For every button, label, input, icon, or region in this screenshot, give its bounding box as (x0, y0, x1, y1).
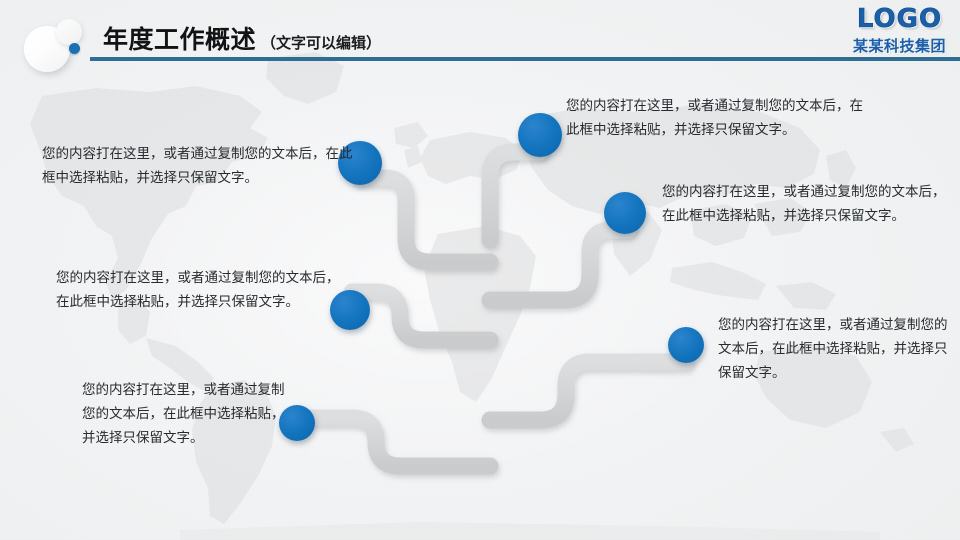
page-title-subtitle: （文字可以编辑） (261, 32, 381, 53)
branch-right-1 (490, 152, 540, 240)
page-title: 年度工作概述 （文字可以编辑） (103, 20, 381, 56)
node-right-3[interactable] (668, 327, 704, 363)
text-block-left-3[interactable]: 您的内容打在这里，或者通过复制您的文本后，在此框中选择粘贴，并选择只保留文字。 (82, 378, 297, 450)
page-title-main: 年度工作概述 (103, 20, 256, 56)
title-divider (90, 57, 960, 61)
logo-company-name: 某某科技集团 (853, 35, 946, 56)
branch-left-3 (297, 418, 490, 466)
slide-header: 年度工作概述 （文字可以编辑） LOGO 某某科技集团 (0, 0, 960, 72)
branch-right-3 (490, 362, 686, 420)
text-block-right-3[interactable]: 您的内容打在这里，或者通过复制您的文本后，在此框中选择粘贴，并选择只保留文字。 (718, 313, 953, 385)
branch-left-2 (352, 292, 490, 340)
decorative-circle-small (56, 19, 82, 45)
node-right-2[interactable] (604, 192, 646, 234)
brand-logo: LOGO 某某科技集团 (853, 4, 946, 56)
text-block-right-1[interactable]: 您的内容打在这里，或者通过复制您的文本后，在此框中选择粘贴，并选择只保留文字。 (566, 94, 866, 142)
node-right-1[interactable] (518, 113, 562, 157)
text-block-right-2[interactable]: 您的内容打在这里，或者通过复制您的文本后，在此框中选择粘贴，并选择只保留文字。 (662, 180, 952, 228)
text-block-left-2[interactable]: 您的内容打在这里，或者通过复制您的文本后，在此框中选择粘贴，并选择只保留文字。 (56, 266, 351, 314)
text-block-left-1[interactable]: 您的内容打在这里，或者通过复制您的文本后，在此框中选择粘贴，并选择只保留文字。 (42, 142, 354, 190)
slide-canvas: 年度工作概述 （文字可以编辑） LOGO 某某科技集团 您的内容打在这里，或者通… (0, 0, 960, 540)
branch-right-2 (490, 230, 628, 300)
logo-mark-text: LOGO (853, 4, 946, 34)
decorative-dot-icon (69, 43, 80, 54)
branch-left-1 (360, 178, 490, 262)
